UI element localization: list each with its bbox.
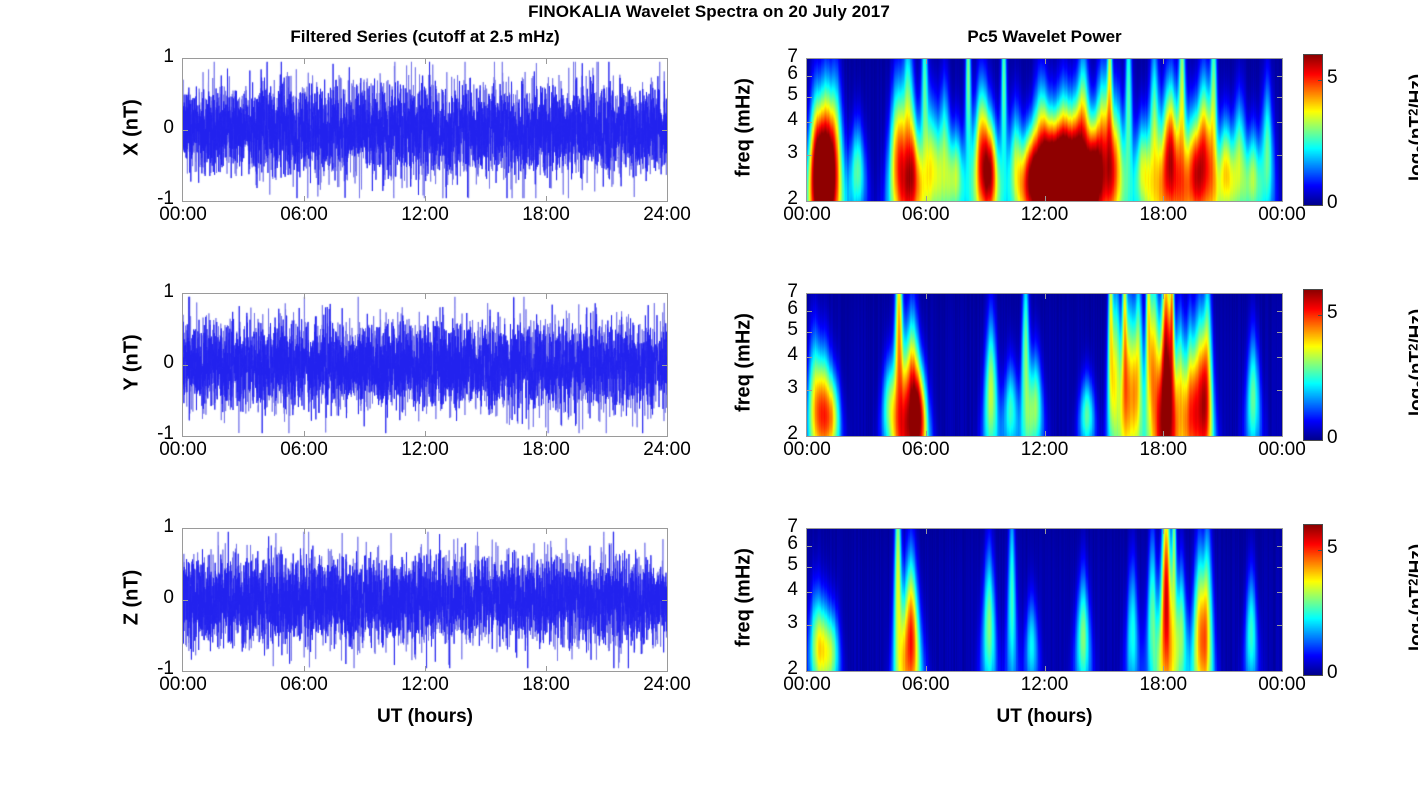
right-column-title: Pc5 Wavelet Power [806,27,1283,47]
wavelet-ylabel-y: freq (mHz) [733,253,756,473]
ytick-mark [807,155,812,156]
timeseries-xtick-z-1: 06:00 [259,674,349,696]
wavelet-ytick-y-2: 5 [768,319,798,341]
wavelet-ytick-x-1: 6 [768,63,798,85]
ytick-mark [662,130,667,131]
wavelet-xtick-y-1: 06:00 [881,439,971,461]
ytick-mark [807,332,812,333]
wavelet-xtick-y-4: 00:00 [1237,439,1327,461]
wavelet-xtick-y-0: 00:00 [762,439,852,461]
xtick-mark [425,294,426,299]
wavelet-xtick-z-3: 18:00 [1118,674,1208,696]
xtick-mark [304,59,305,64]
colorbar-z [1303,524,1323,676]
wavelet-panel-x [806,58,1283,202]
wavelet-ytick-x-4: 3 [768,142,798,164]
xtick-mark [1163,529,1164,534]
xtick-mark [1045,196,1046,201]
ytick-mark [807,546,812,547]
xtick-mark [304,294,305,299]
figure-title: FINOKALIA Wavelet Spectra on 20 July 201… [0,2,1418,22]
colorbar-gradient [1304,525,1322,675]
wavelet-xtick-x-4: 00:00 [1237,204,1327,226]
wavelet-xtick-z-4: 00:00 [1237,674,1327,696]
wavelet-xtick-z-2: 12:00 [1000,674,1090,696]
timeseries-panel-x [182,58,668,202]
timeseries-xtick-z-4: 24:00 [622,674,712,696]
xtick-mark [1163,431,1164,436]
ytick-mark [1277,155,1282,156]
wavelet-ylabel-z: freq (mHz) [733,488,756,708]
xtick-mark [546,59,547,64]
colorbar-tick-mark [1318,315,1322,316]
wavelet-xtick-x-3: 18:00 [1118,204,1208,226]
ytick-mark [807,625,812,626]
ytick-mark [662,600,667,601]
xtick-mark [304,431,305,436]
xtick-mark [304,196,305,201]
wavelet-xtick-x-2: 12:00 [1000,204,1090,226]
wavelet-ytick-z-2: 5 [768,554,798,576]
ytick-mark [1277,76,1282,77]
ytick-mark [1277,625,1282,626]
xtick-mark [1163,59,1164,64]
timeseries-xtick-x-1: 06:00 [259,204,349,226]
colorbar-tick-z-0: 5 [1327,537,1338,559]
timeseries-trace-z [183,529,667,671]
colorbar-tick-mark [1318,205,1322,206]
ytick-mark [183,130,188,131]
wavelet-xtick-y-2: 12:00 [1000,439,1090,461]
xtick-mark [304,529,305,534]
ytick-mark [1277,122,1282,123]
xtick-mark [546,294,547,299]
timeseries-xtick-z-2: 12:00 [380,674,470,696]
ytick-mark [807,592,812,593]
colorbar-tick-x-1: 0 [1327,192,1338,214]
wavelet-panel-z [806,528,1283,672]
xtick-mark [1163,196,1164,201]
timeseries-xtick-x-0: 00:00 [138,204,228,226]
wavelet-ytick-y-4: 3 [768,377,798,399]
timeseries-xtick-y-4: 24:00 [622,439,712,461]
figure-canvas: FINOKALIA Wavelet Spectra on 20 July 201… [0,0,1418,788]
ytick-mark [807,567,812,568]
timeseries-xtick-y-2: 12:00 [380,439,470,461]
timeseries-xtick-y-3: 18:00 [501,439,591,461]
xtick-mark [1045,431,1046,436]
wavelet-ytick-x-3: 4 [768,109,798,131]
colorbar-tick-mark [1318,550,1322,551]
xtick-mark [546,196,547,201]
xtick-mark [926,431,927,436]
right-x-axis-label: UT (hours) [806,706,1283,728]
ytick-mark [1277,357,1282,358]
xtick-mark [1045,666,1046,671]
ytick-mark [807,122,812,123]
xtick-mark [926,196,927,201]
wavelet-ytick-y-1: 6 [768,298,798,320]
ytick-mark [807,97,812,98]
timeseries-ylabel-z: Z (nT) [121,498,144,698]
colorbar-label-z: log2(nT2/Hz) [1406,498,1418,698]
colorbar-tick-y-0: 5 [1327,302,1338,324]
ytick-mark [1277,567,1282,568]
wavelet-xtick-y-3: 18:00 [1118,439,1208,461]
colorbar-y [1303,289,1323,441]
wavelet-ytick-z-4: 3 [768,612,798,634]
wavelet-xtick-z-0: 00:00 [762,674,852,696]
left-column-title: Filtered Series (cutoff at 2.5 mHz) [182,27,668,47]
colorbar-tick-mark [1318,80,1322,81]
xtick-mark [304,666,305,671]
colorbar-tick-z-1: 0 [1327,662,1338,684]
wavelet-ytick-z-3: 4 [768,579,798,601]
xtick-mark [1045,59,1046,64]
wavelet-panel-y [806,293,1283,437]
wavelet-xtick-z-1: 06:00 [881,674,971,696]
xtick-mark [425,666,426,671]
timeseries-xtick-z-3: 18:00 [501,674,591,696]
wavelet-xtick-x-1: 06:00 [881,204,971,226]
ytick-mark [662,365,667,366]
timeseries-xtick-x-3: 18:00 [501,204,591,226]
colorbar-tick-mark [1318,675,1322,676]
wavelet-ytick-x-2: 5 [768,84,798,106]
ytick-mark [1277,390,1282,391]
timeseries-xtick-y-0: 00:00 [138,439,228,461]
xtick-mark [546,529,547,534]
xtick-mark [1045,529,1046,534]
xtick-mark [926,59,927,64]
ytick-mark [807,390,812,391]
timeseries-xtick-z-0: 00:00 [138,674,228,696]
xtick-mark [1045,294,1046,299]
xtick-mark [425,196,426,201]
xtick-mark [1163,666,1164,671]
ytick-mark [807,311,812,312]
timeseries-xtick-y-1: 06:00 [259,439,349,461]
xtick-mark [425,431,426,436]
timeseries-panel-z [182,528,668,672]
timeseries-trace-x [183,59,667,201]
ytick-mark [807,76,812,77]
ytick-mark [183,600,188,601]
wavelet-ytick-z-1: 6 [768,533,798,555]
wavelet-spectrogram-x [807,59,1282,201]
colorbar-tick-y-1: 0 [1327,427,1338,449]
ytick-mark [1277,97,1282,98]
wavelet-ylabel-x: freq (mHz) [733,18,756,238]
colorbar-gradient [1304,55,1322,205]
xtick-mark [926,294,927,299]
xtick-mark [425,529,426,534]
xtick-mark [546,431,547,436]
timeseries-ylabel-x: X (nT) [121,28,144,228]
ytick-mark [183,365,188,366]
wavelet-xtick-x-0: 00:00 [762,204,852,226]
ytick-mark [1277,546,1282,547]
colorbar-x [1303,54,1323,206]
xtick-mark [1163,294,1164,299]
colorbar-label-y: log2(nT2/Hz) [1406,263,1418,463]
wavelet-ytick-y-3: 4 [768,344,798,366]
colorbar-tick-x-0: 5 [1327,67,1338,89]
ytick-mark [1277,311,1282,312]
xtick-mark [926,529,927,534]
timeseries-panel-y [182,293,668,437]
ytick-mark [1277,592,1282,593]
wavelet-spectrogram-y [807,294,1282,436]
ytick-mark [1277,332,1282,333]
timeseries-xtick-x-2: 12:00 [380,204,470,226]
xtick-mark [926,666,927,671]
xtick-mark [546,666,547,671]
timeseries-trace-y [183,294,667,436]
timeseries-xtick-x-4: 24:00 [622,204,712,226]
colorbar-tick-mark [1318,440,1322,441]
xtick-mark [425,59,426,64]
timeseries-ylabel-y: Y (nT) [121,263,144,463]
colorbar-label-x: log2(nT2/Hz) [1406,28,1418,228]
wavelet-spectrogram-z [807,529,1282,671]
ytick-mark [807,357,812,358]
left-x-axis-label: UT (hours) [182,706,668,728]
colorbar-gradient [1304,290,1322,440]
